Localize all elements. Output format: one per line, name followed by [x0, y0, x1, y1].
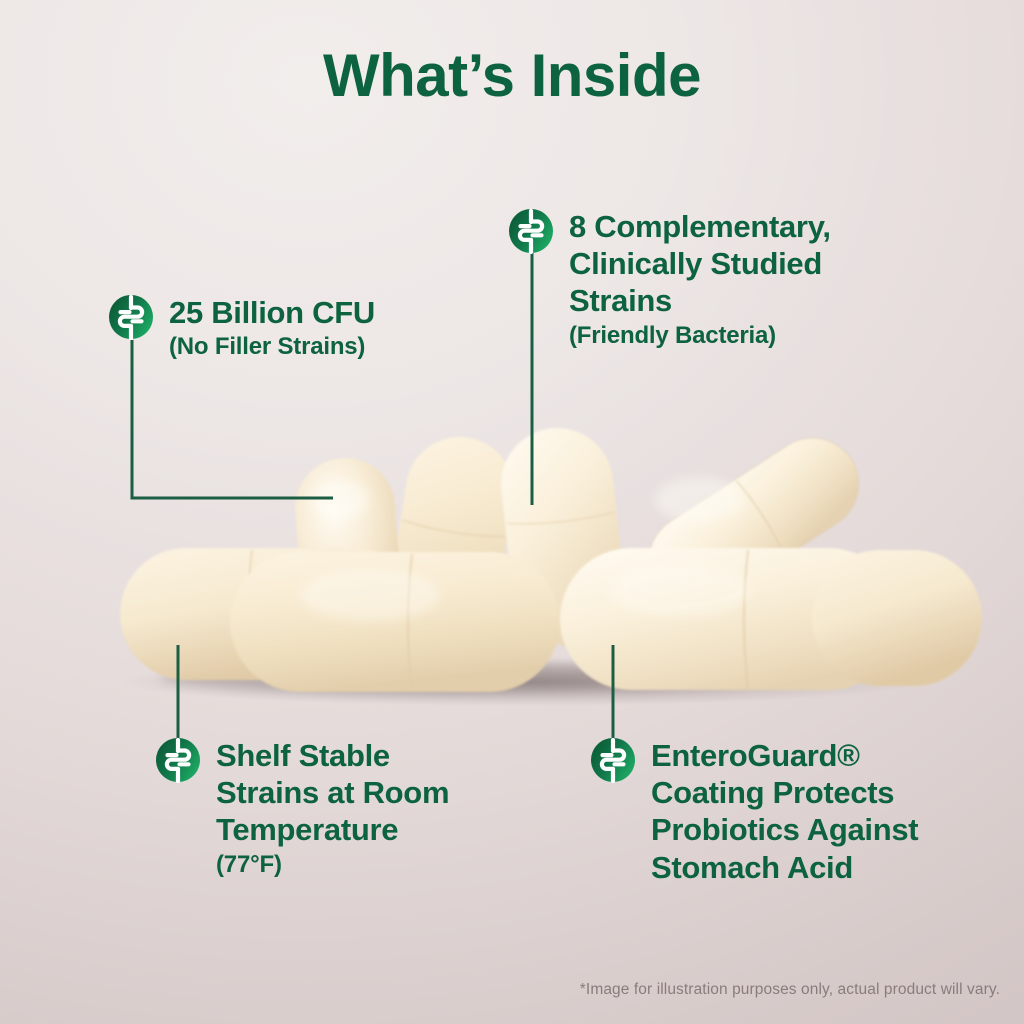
product-infographic: What’s Inside	[0, 0, 1024, 1024]
page-title: What’s Inside	[0, 44, 1024, 107]
gut-icon	[155, 737, 201, 783]
callout-headline: 8 Complementary, Clinically Studied Stra…	[569, 209, 831, 318]
callout-25-billion-cfu: 25 Billion CFU (No Filler Strains)	[108, 294, 375, 362]
footnote-disclaimer: *Image for illustration purposes only, a…	[580, 981, 1000, 999]
callout-subline: (Friendly Bacteria)	[569, 322, 831, 351]
probiotic-capsules-photo	[0, 400, 1024, 730]
gut-icon	[590, 737, 636, 783]
callout-headline: EnteroGuard® Coating Protects Probiotics…	[651, 738, 918, 885]
gut-icon	[508, 208, 554, 254]
gut-icon	[108, 294, 154, 340]
callout-8-complementary-strains: 8 Complementary, Clinically Studied Stra…	[508, 208, 831, 350]
callout-subline: (77°F)	[216, 851, 449, 880]
callout-shelf-stable: Shelf Stable Strains at Room Temperature…	[155, 737, 449, 879]
callout-enteroguard: EnteroGuard® Coating Protects Probiotics…	[590, 737, 918, 888]
callout-subline: (No Filler Strains)	[169, 333, 375, 362]
callout-headline: 25 Billion CFU	[169, 295, 375, 330]
callout-headline: Shelf Stable Strains at Room Temperature	[216, 738, 449, 847]
